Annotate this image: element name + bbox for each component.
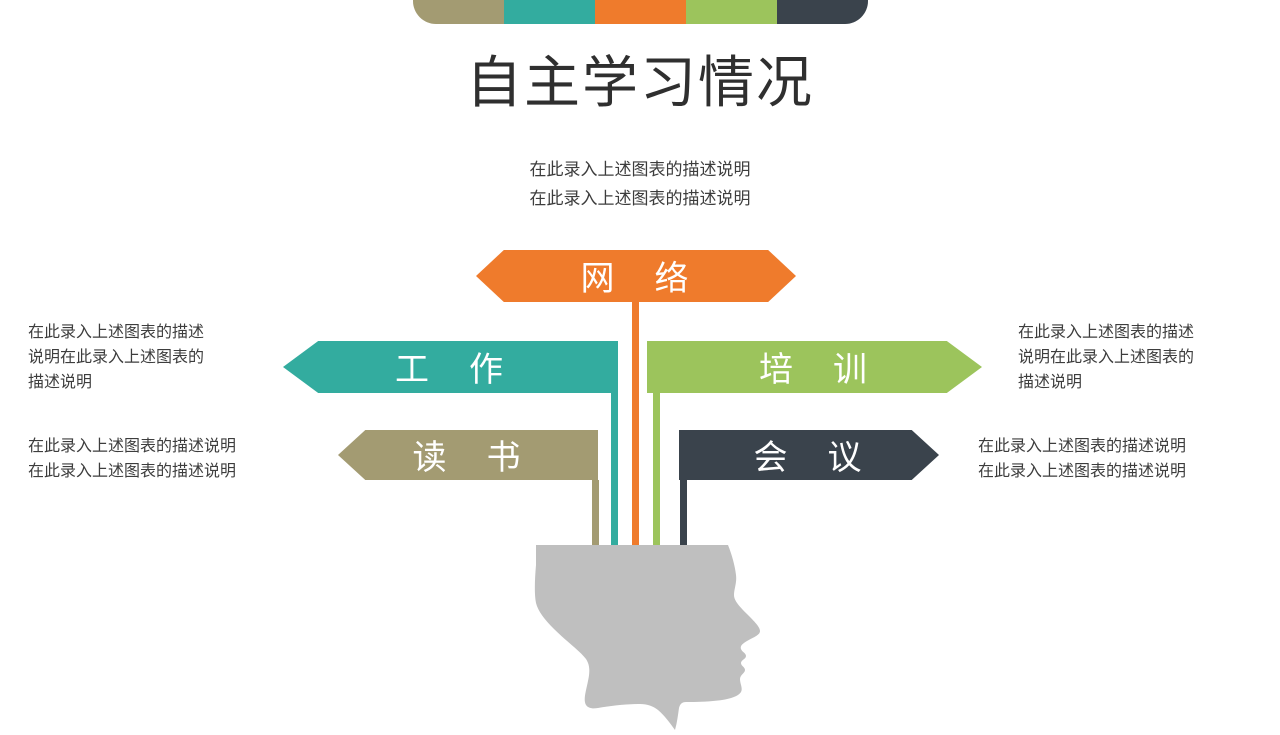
caption-right-bottom-line-1: 在此录入上述图表的描述说明	[978, 434, 1186, 459]
caption-right-top-line-1: 在此录入上述图表的描述	[1018, 320, 1194, 345]
caption-left-top-line-1: 在此录入上述图表的描述	[28, 320, 204, 345]
caption-right-bottom: 在此录入上述图表的描述说明 在此录入上述图表的描述说明	[978, 434, 1186, 484]
caption-right-top-line-2: 说明在此录入上述图表的	[1018, 345, 1194, 370]
caption-right-top: 在此录入上述图表的描述 说明在此录入上述图表的 描述说明	[1018, 320, 1194, 395]
caption-left-top-line-2: 说明在此录入上述图表的	[28, 345, 204, 370]
banner-network[interactable]: 网 络	[476, 250, 796, 302]
connector-work	[611, 393, 618, 552]
connector-network	[632, 300, 639, 552]
banner-reading[interactable]: 读 书	[338, 430, 598, 480]
banner-network-label: 网 络	[581, 251, 692, 300]
banner-work-label: 工 作	[395, 342, 506, 391]
caption-left-bottom-line-1: 在此录入上述图表的描述说明	[28, 434, 236, 459]
color-bar-segment-orange	[595, 0, 686, 24]
subtitle-line-1: 在此录入上述图表的描述说明	[0, 155, 1280, 184]
subtitle-line-2: 在此录入上述图表的描述说明	[0, 184, 1280, 213]
banner-training-label: 培 训	[759, 342, 870, 391]
banner-training[interactable]: 培 训	[647, 341, 982, 393]
caption-right-bottom-line-2: 在此录入上述图表的描述说明	[978, 459, 1186, 484]
color-bar-segment-khaki	[413, 0, 504, 24]
connector-reading	[592, 480, 599, 552]
head-profile-silhouette	[520, 545, 790, 730]
color-bar-segment-navy	[777, 0, 868, 24]
banner-meeting-label: 会 议	[754, 430, 865, 479]
decorative-color-bar	[413, 0, 868, 24]
color-bar-segment-green	[686, 0, 777, 24]
banner-meeting[interactable]: 会 议	[679, 430, 939, 480]
caption-left-top-line-3: 描述说明	[28, 370, 204, 395]
connector-training	[653, 393, 660, 552]
caption-right-top-line-3: 描述说明	[1018, 370, 1194, 395]
banner-work[interactable]: 工 作	[283, 341, 618, 393]
subtitle-block: 在此录入上述图表的描述说明 在此录入上述图表的描述说明	[0, 155, 1280, 213]
caption-left-bottom-line-2: 在此录入上述图表的描述说明	[28, 459, 236, 484]
caption-left-bottom: 在此录入上述图表的描述说明 在此录入上述图表的描述说明	[28, 434, 236, 484]
banner-reading-label: 读 书	[413, 430, 524, 479]
page-title: 自主学习情况	[0, 50, 1280, 116]
head-silhouette-path	[535, 545, 760, 730]
caption-left-top: 在此录入上述图表的描述 说明在此录入上述图表的 描述说明	[28, 320, 204, 395]
color-bar-segment-teal	[504, 0, 595, 24]
head-profile-icon	[520, 545, 790, 730]
connector-meeting	[680, 480, 687, 552]
